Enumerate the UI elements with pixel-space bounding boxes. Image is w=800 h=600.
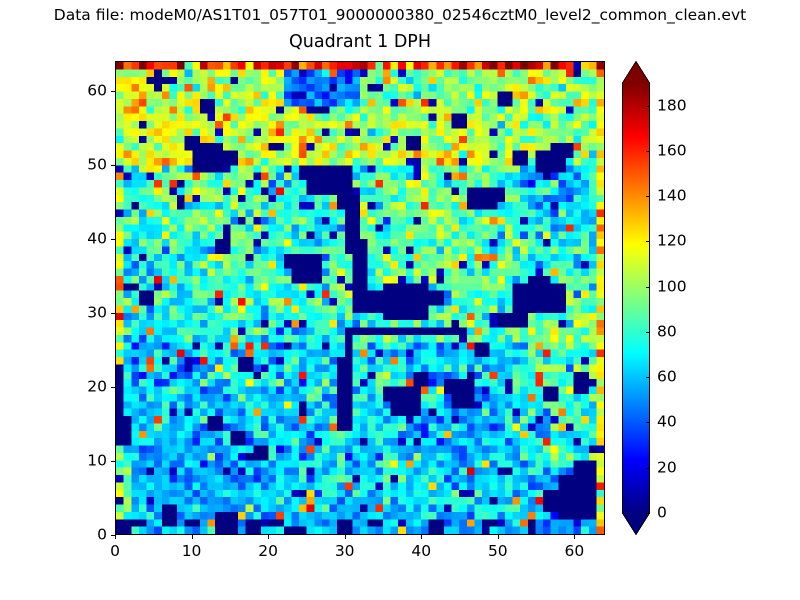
matplotlib-figure: Data file: modeM0/AS1T01_057T01_90000003…	[0, 0, 800, 600]
y-tick-label: 40	[69, 230, 107, 247]
colorbar-tick-label: 180	[657, 97, 687, 114]
colorbar-tick-label: 20	[657, 459, 677, 476]
colorbar-tick-mark	[646, 513, 650, 514]
y-tick-label: 10	[69, 452, 107, 469]
x-tick-mark	[268, 535, 269, 539]
dph-heatmap-axes[interactable]	[115, 61, 605, 535]
data-file-suptitle: Data file: modeM0/AS1T01_057T01_90000003…	[0, 6, 800, 24]
colorbar-tick-label: 100	[657, 278, 687, 295]
y-tick-mark	[111, 461, 115, 462]
colorbar-tick-label: 80	[657, 323, 677, 340]
x-tick-label: 10	[182, 543, 202, 560]
y-tick-mark	[111, 313, 115, 314]
x-tick-mark	[345, 535, 346, 539]
y-tick-mark	[111, 165, 115, 166]
y-tick-label: 0	[69, 527, 107, 544]
colorbar-tick-label: 60	[657, 369, 677, 386]
colorbar-tick-mark	[646, 468, 650, 469]
x-tick-label: 50	[488, 543, 508, 560]
colorbar-tick-mark	[646, 196, 650, 197]
colorbar[interactable]	[622, 61, 650, 535]
colorbar-tick-label: 140	[657, 188, 687, 205]
y-tick-mark	[111, 239, 115, 240]
colorbar-tick-mark	[646, 332, 650, 333]
x-tick-mark	[421, 535, 422, 539]
dph-heatmap-image[interactable]	[116, 62, 604, 534]
colorbar-tick-label: 120	[657, 233, 687, 250]
x-tick-label: 30	[335, 543, 355, 560]
colorbar-tick-label: 160	[657, 142, 687, 159]
y-tick-label: 60	[69, 82, 107, 99]
y-tick-mark	[111, 387, 115, 388]
colorbar-tick-mark	[646, 241, 650, 242]
x-tick-label: 0	[110, 543, 120, 560]
colorbar-gradient[interactable]	[622, 61, 650, 535]
y-tick-label: 20	[69, 378, 107, 395]
colorbar-tick-mark	[646, 422, 650, 423]
y-tick-mark	[111, 91, 115, 92]
x-tick-mark	[498, 535, 499, 539]
colorbar-tick-mark	[646, 377, 650, 378]
plot-title: Quadrant 1 DPH	[115, 31, 605, 53]
y-tick-label: 50	[69, 156, 107, 173]
colorbar-tick-mark	[646, 287, 650, 288]
colorbar-tick-label: 40	[657, 414, 677, 431]
x-tick-label: 20	[258, 543, 278, 560]
colorbar-tick-mark	[646, 151, 650, 152]
colorbar-tick-mark	[646, 106, 650, 107]
x-tick-mark	[115, 535, 116, 539]
x-tick-label: 40	[411, 543, 431, 560]
y-tick-label: 30	[69, 304, 107, 321]
x-tick-label: 60	[565, 543, 585, 560]
x-tick-mark	[574, 535, 575, 539]
x-tick-mark	[192, 535, 193, 539]
colorbar-tick-label: 0	[657, 505, 667, 522]
y-tick-mark	[111, 535, 115, 536]
